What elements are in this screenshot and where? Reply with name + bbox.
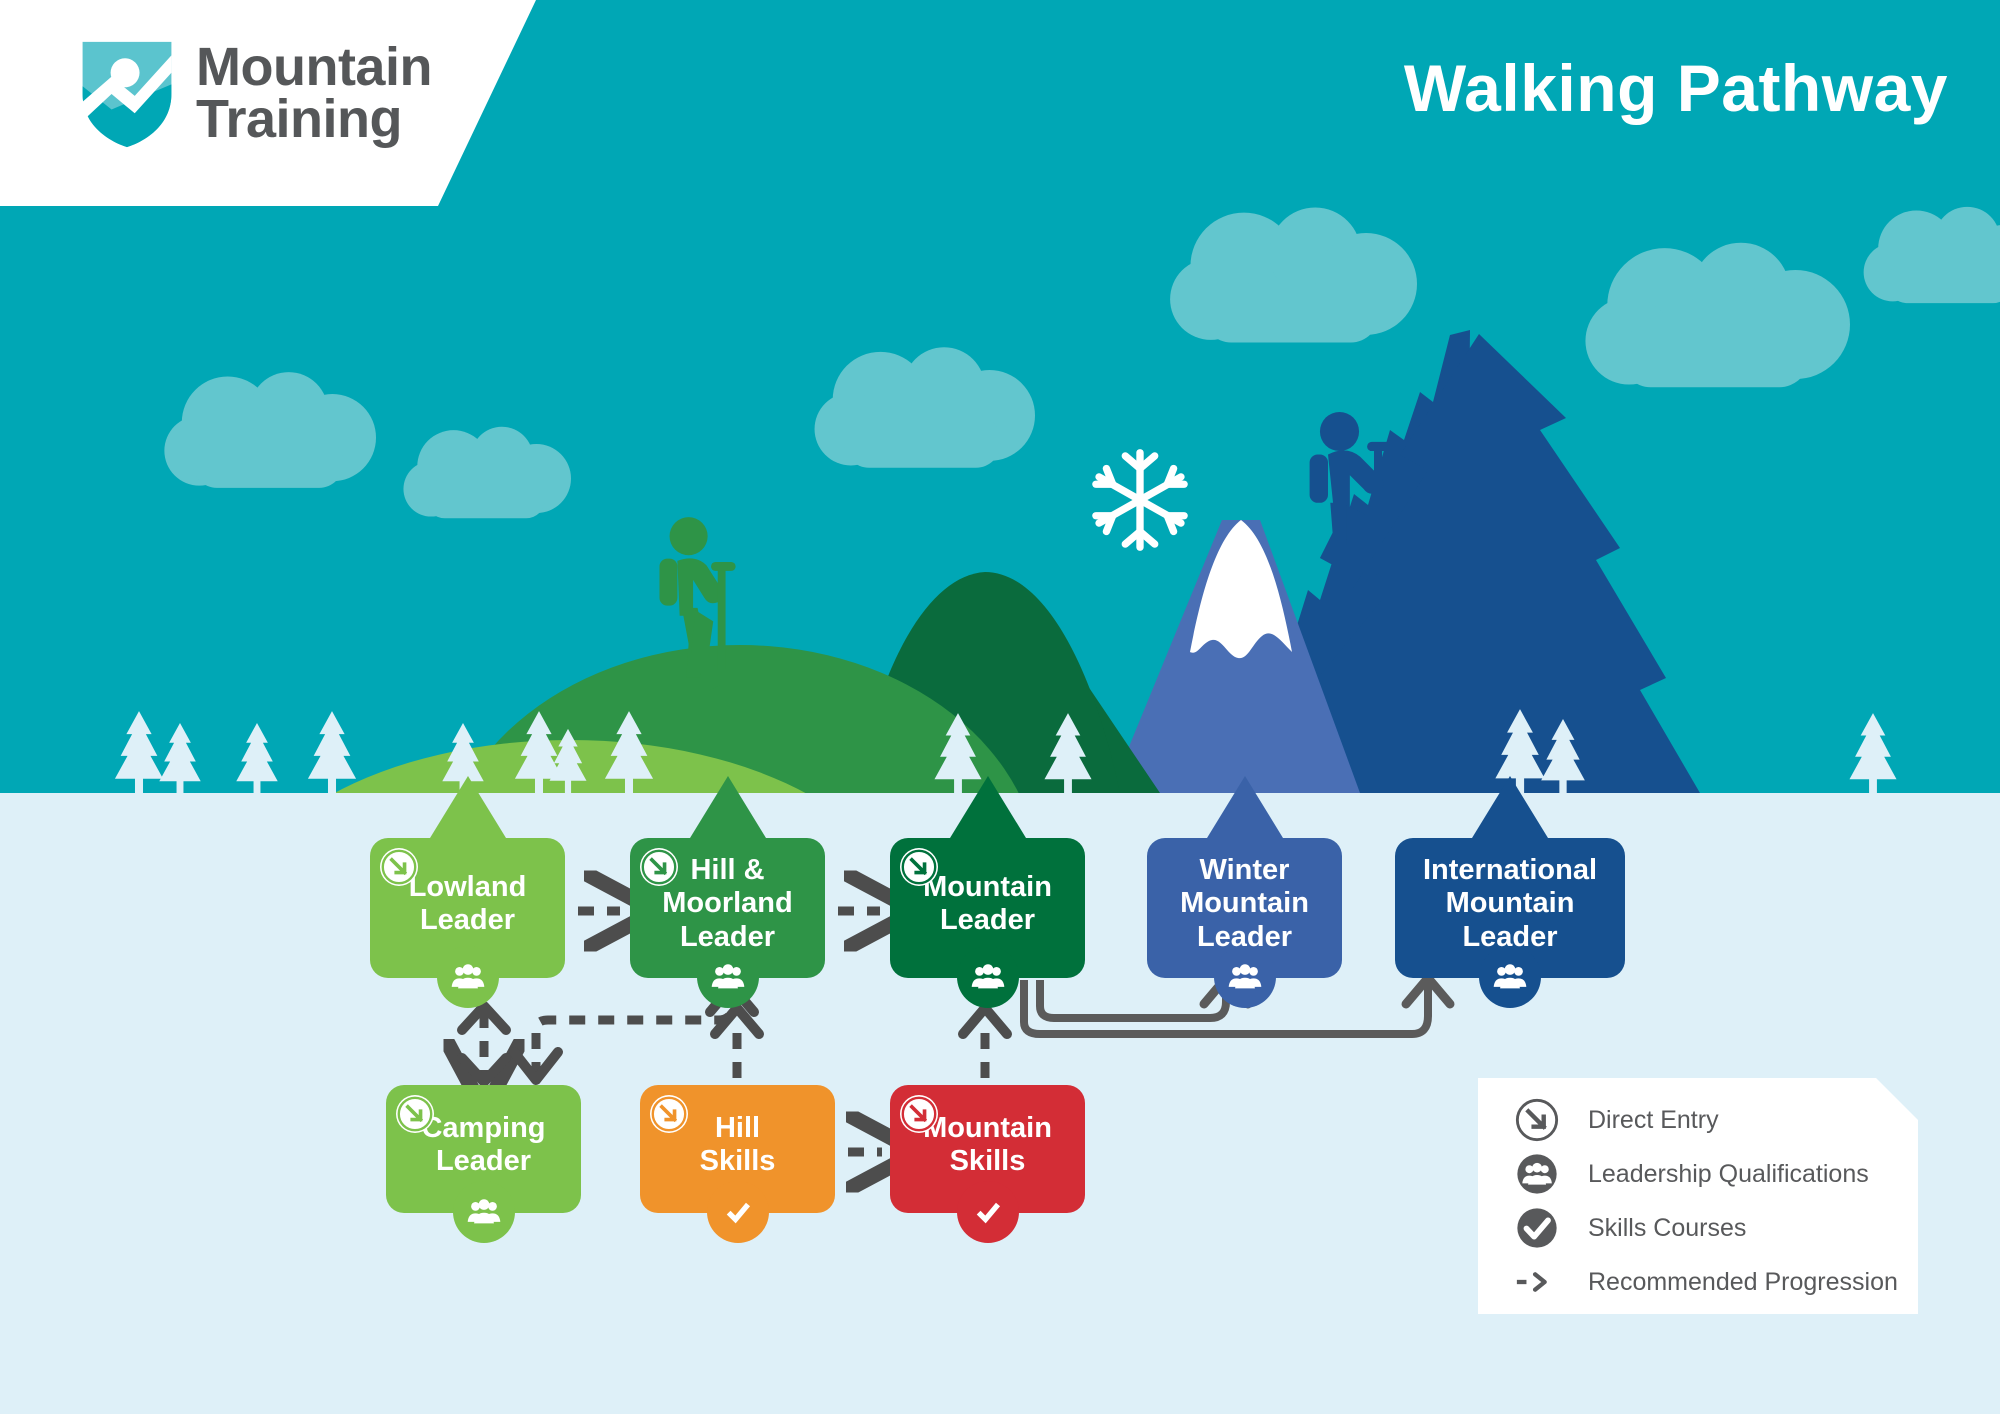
node-hill-moorland-leader[interactable]: Hill &MoorlandLeader bbox=[630, 838, 825, 978]
skills-course-icon bbox=[957, 1181, 1019, 1243]
direct-entry-icon bbox=[396, 1095, 434, 1133]
node-label-hill-moorland-leader: Hill &MoorlandLeader bbox=[662, 854, 793, 953]
node-label-lowland-leader: LowlandLeader bbox=[409, 871, 527, 937]
node-label-line: Winter bbox=[1200, 854, 1290, 886]
walking-pathway-infographic: Mountain Training Walking Pathway Lowlan… bbox=[0, 0, 2000, 1414]
direct-entry-icon bbox=[640, 848, 678, 886]
node-label-line: International bbox=[1423, 854, 1597, 886]
node-label-winter-mountain-leader: WinterMountainLeader bbox=[1180, 854, 1309, 953]
legend-item-leadership-qualifications: Leadership Qualifications bbox=[1514, 1154, 1869, 1194]
cloud-group bbox=[164, 207, 2000, 518]
node-hill-skills[interactable]: HillSkills bbox=[640, 1085, 835, 1213]
node-label-line: Skills bbox=[950, 1145, 1026, 1177]
leadership-qualifications-icon bbox=[697, 946, 759, 1008]
node-label-line: Mountain bbox=[923, 871, 1052, 903]
leadership-qualifications-icon bbox=[453, 1181, 515, 1243]
node-label-line: Mountain bbox=[1446, 887, 1575, 919]
brand-line-1: Mountain bbox=[196, 42, 432, 94]
legend-label: Skills Courses bbox=[1588, 1214, 1746, 1243]
legend-item-direct-entry: Direct Entry bbox=[1514, 1100, 1719, 1140]
direct-entry-icon bbox=[650, 1095, 688, 1133]
legend-label: Recommended Progression bbox=[1588, 1268, 1898, 1297]
node-international-mountain-leader[interactable]: InternationalMountainLeader bbox=[1395, 838, 1625, 978]
node-lowland-leader[interactable]: LowlandLeader bbox=[370, 838, 565, 978]
leadership-qualifications-icon bbox=[1479, 946, 1541, 1008]
leadership-qualifications-icon bbox=[437, 946, 499, 1008]
node-label-line: Leader bbox=[420, 904, 515, 936]
recommended-progression-arrow-icon bbox=[1514, 1259, 1560, 1305]
node-label-camping-leader: CampingLeader bbox=[421, 1112, 545, 1178]
legend-item-skills-course: Skills Courses bbox=[1514, 1208, 1746, 1248]
node-label-line: Camping bbox=[421, 1112, 545, 1144]
node-camping-leader[interactable]: CampingLeader bbox=[386, 1085, 581, 1213]
direct-entry-icon bbox=[380, 848, 418, 886]
legend-label: Direct Entry bbox=[1588, 1106, 1719, 1135]
node-label-mountain-leader: MountainLeader bbox=[923, 871, 1052, 937]
leadership-qualifications-icon bbox=[1214, 946, 1276, 1008]
node-winter-mountain-leader[interactable]: WinterMountainLeader bbox=[1147, 838, 1342, 978]
leadership-qualifications-icon bbox=[957, 946, 1019, 1008]
node-label-line: Hill bbox=[715, 1112, 760, 1144]
direct-entry-icon bbox=[900, 848, 938, 886]
skills-course-icon bbox=[707, 1181, 769, 1243]
node-peak-mountain-leader bbox=[950, 776, 1026, 838]
brand-line-2: Training bbox=[196, 94, 432, 146]
node-label-hill-skills: HillSkills bbox=[700, 1112, 776, 1178]
leadership-qualifications-icon bbox=[1514, 1151, 1560, 1197]
mountain-shield-logo bbox=[78, 38, 176, 150]
node-label-line: Leader bbox=[940, 904, 1035, 936]
node-label-line: Mountain bbox=[923, 1112, 1052, 1144]
node-label-line: Mountain bbox=[1180, 887, 1309, 919]
node-peak-hill-moorland-leader bbox=[690, 776, 766, 838]
node-label-mountain-skills: MountainSkills bbox=[923, 1112, 1052, 1178]
skills-course-icon bbox=[1514, 1205, 1560, 1251]
legend-panel: Direct EntryLeadership QualificationsSki… bbox=[1478, 1078, 1918, 1314]
node-label-line: Hill & bbox=[690, 854, 764, 886]
node-mountain-leader[interactable]: MountainLeader bbox=[890, 838, 1085, 978]
node-label-line: Lowland bbox=[409, 871, 527, 903]
node-peak-lowland-leader bbox=[430, 776, 506, 838]
node-peak-international-mountain-leader bbox=[1472, 776, 1548, 838]
page-title: Walking Pathway bbox=[1404, 50, 1948, 126]
snowflake-icon bbox=[1096, 453, 1184, 548]
node-label-line: Skills bbox=[700, 1145, 776, 1177]
legend-label: Leadership Qualifications bbox=[1588, 1160, 1869, 1189]
node-label-international-mountain-leader: InternationalMountainLeader bbox=[1423, 854, 1597, 953]
direct-entry-icon bbox=[900, 1095, 938, 1133]
node-mountain-skills[interactable]: MountainSkills bbox=[890, 1085, 1085, 1213]
node-label-line: Leader bbox=[436, 1145, 531, 1177]
brand-wordmark: Mountain Training bbox=[196, 42, 432, 146]
node-label-line: Moorland bbox=[662, 887, 793, 919]
direct-entry-icon bbox=[1514, 1097, 1560, 1143]
legend-item-recommended-progression-arrow: Recommended Progression bbox=[1514, 1262, 1898, 1302]
node-peak-winter-mountain-leader bbox=[1207, 776, 1283, 838]
